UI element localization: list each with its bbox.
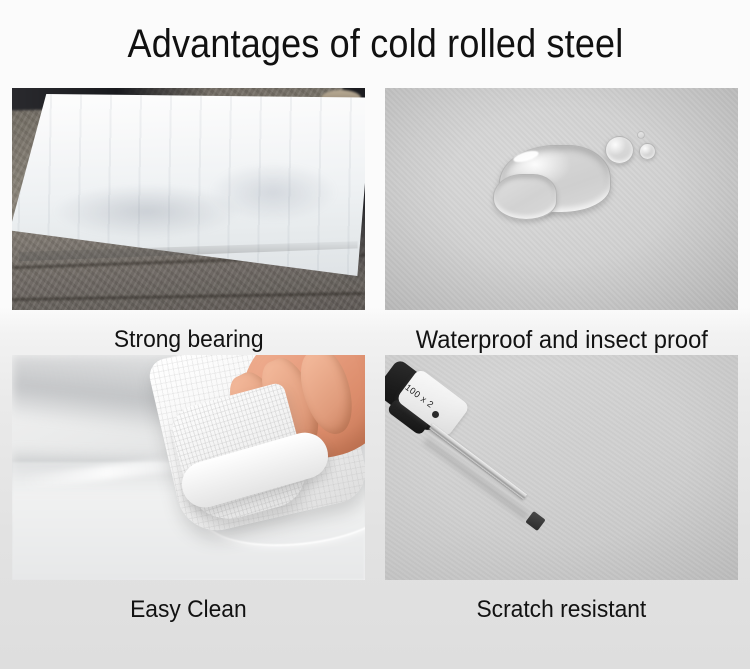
advantages-poster: Advantages of cold rolled steel Strong b… [0,0,750,669]
feature-card-strong-bearing[interactable]: Strong bearing [10,88,367,355]
feature-card-easy-clean[interactable]: Easy Clean [10,355,367,628]
feature-caption-strong-bearing: Strong bearing [114,327,264,353]
steel-sheet-smudge [208,162,338,222]
photo-strong-bearing [12,88,365,310]
page-title: Advantages of cold rolled steel [127,24,623,64]
feature-caption-waterproof: Waterproof and insect proof [415,327,707,355]
poster-title-bar: Advantages of cold rolled steel [0,0,750,88]
feature-caption-scratch-resistant: Scratch resistant [477,597,647,623]
photo-waterproof [385,88,738,310]
feature-card-scratch-resistant[interactable]: 100 x 2 Scratch resistant [383,355,740,628]
photo-easy-clean [12,355,365,580]
feature-card-waterproof[interactable]: Waterproof and insect proof [383,88,740,355]
feature-grid: Strong bearing Waterproof and insect pro… [0,88,750,628]
feature-caption-easy-clean: Easy Clean [130,597,247,623]
photo-vignette [385,88,738,310]
photo-vignette [385,355,738,580]
photo-scratch-resistant: 100 x 2 [385,355,738,580]
